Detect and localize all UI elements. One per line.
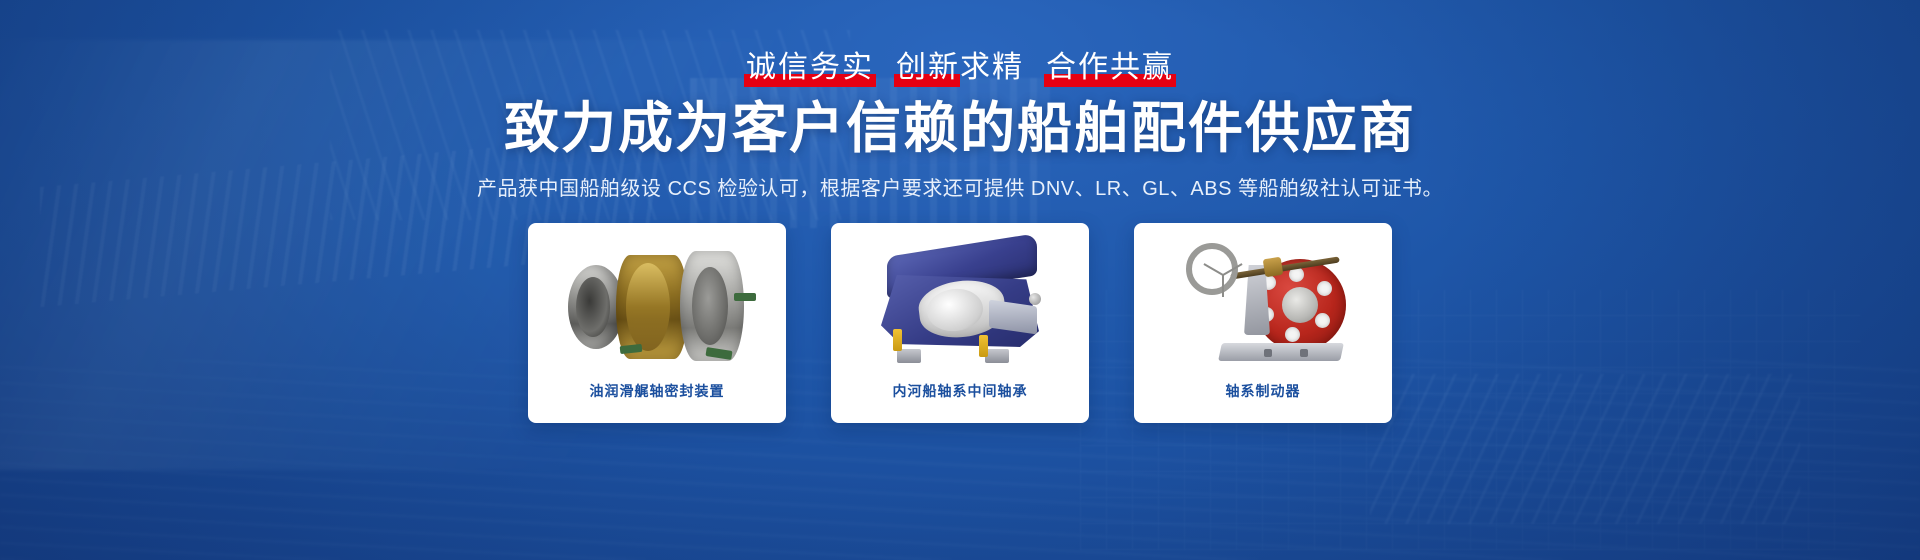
page-title: 致力成为客户信赖的船舶配件供应商 <box>0 94 1920 162</box>
product-caption: 油润滑艉轴密封装置 <box>590 381 725 401</box>
product-caption: 内河船轴系中间轴承 <box>893 381 1028 401</box>
bearing-yellow-wedge-1 <box>893 329 902 351</box>
handwheel-spoke-1 <box>1222 275 1224 297</box>
seal-flange-bore <box>692 267 728 345</box>
shafting-brake-illustration <box>1180 241 1352 369</box>
product-card-shafting-brake[interactable]: 轴系制动器 <box>1134 223 1392 423</box>
bearing-foot-right <box>985 349 1009 363</box>
slogan-segment-1: 诚信务实 <box>744 48 876 88</box>
bearing-yellow-wedge-2 <box>979 335 988 357</box>
stern-seal-illustration <box>568 249 750 361</box>
product-caption: 轴系制动器 <box>1226 381 1301 401</box>
intermediate-bearing-illustration <box>877 245 1047 365</box>
product-card-inland-vessel-intermediate-bearing[interactable]: 内河船轴系中间轴承 <box>831 223 1089 423</box>
seal-bore <box>576 277 610 337</box>
brake-wheel-hole-4 <box>1285 327 1300 342</box>
product-card-oil-lubricated-stern-shaft-seal[interactable]: 油润滑艉轴密封装置 <box>528 223 786 423</box>
slogan-segment-3: 合作共赢 <box>1044 48 1176 88</box>
product-image-shafting-brake <box>1156 233 1370 375</box>
brake-wheel-hub <box>1282 287 1318 323</box>
handwheel-spoke-2 <box>1203 263 1223 276</box>
bearing-oil-knob <box>1029 293 1041 305</box>
company-slogan: 诚信务实 创新求精 合作共赢 <box>0 48 1920 88</box>
banner-subtitle: 产品获中国船舶级设 CCS 检验认可，根据客户要求还可提供 DNV、LR、GL、… <box>0 172 1920 201</box>
brake-handwheel <box>1186 243 1238 295</box>
product-card-list: 油润滑艉轴密封装置 内河船轴系中间轴承 <box>0 223 1920 423</box>
brake-base-plate <box>1218 343 1344 361</box>
brake-base-bolt-1 <box>1264 349 1272 357</box>
brake-base-bolt-2 <box>1300 349 1308 357</box>
seal-green-bracket-1 <box>734 293 756 301</box>
brake-wheel-hole-3 <box>1315 313 1330 328</box>
brake-brass-collar <box>1263 257 1284 278</box>
slogan-segment-2: 创新求精 <box>894 48 1026 88</box>
brake-wheel-hole-2 <box>1317 281 1332 296</box>
hero-banner: 诚信务实 创新求精 合作共赢 致力成为客户信赖的船舶配件供应商 产品获中国船舶级… <box>0 0 1920 560</box>
bearing-foot-left <box>897 349 921 363</box>
product-image-inland-vessel-intermediate-bearing <box>853 233 1067 375</box>
banner-content: 诚信务实 创新求精 合作共赢 致力成为客户信赖的船舶配件供应商 产品获中国船舶级… <box>0 48 1920 201</box>
seal-brass-inner <box>626 263 670 351</box>
product-image-oil-lubricated-stern-shaft-seal <box>550 233 764 375</box>
